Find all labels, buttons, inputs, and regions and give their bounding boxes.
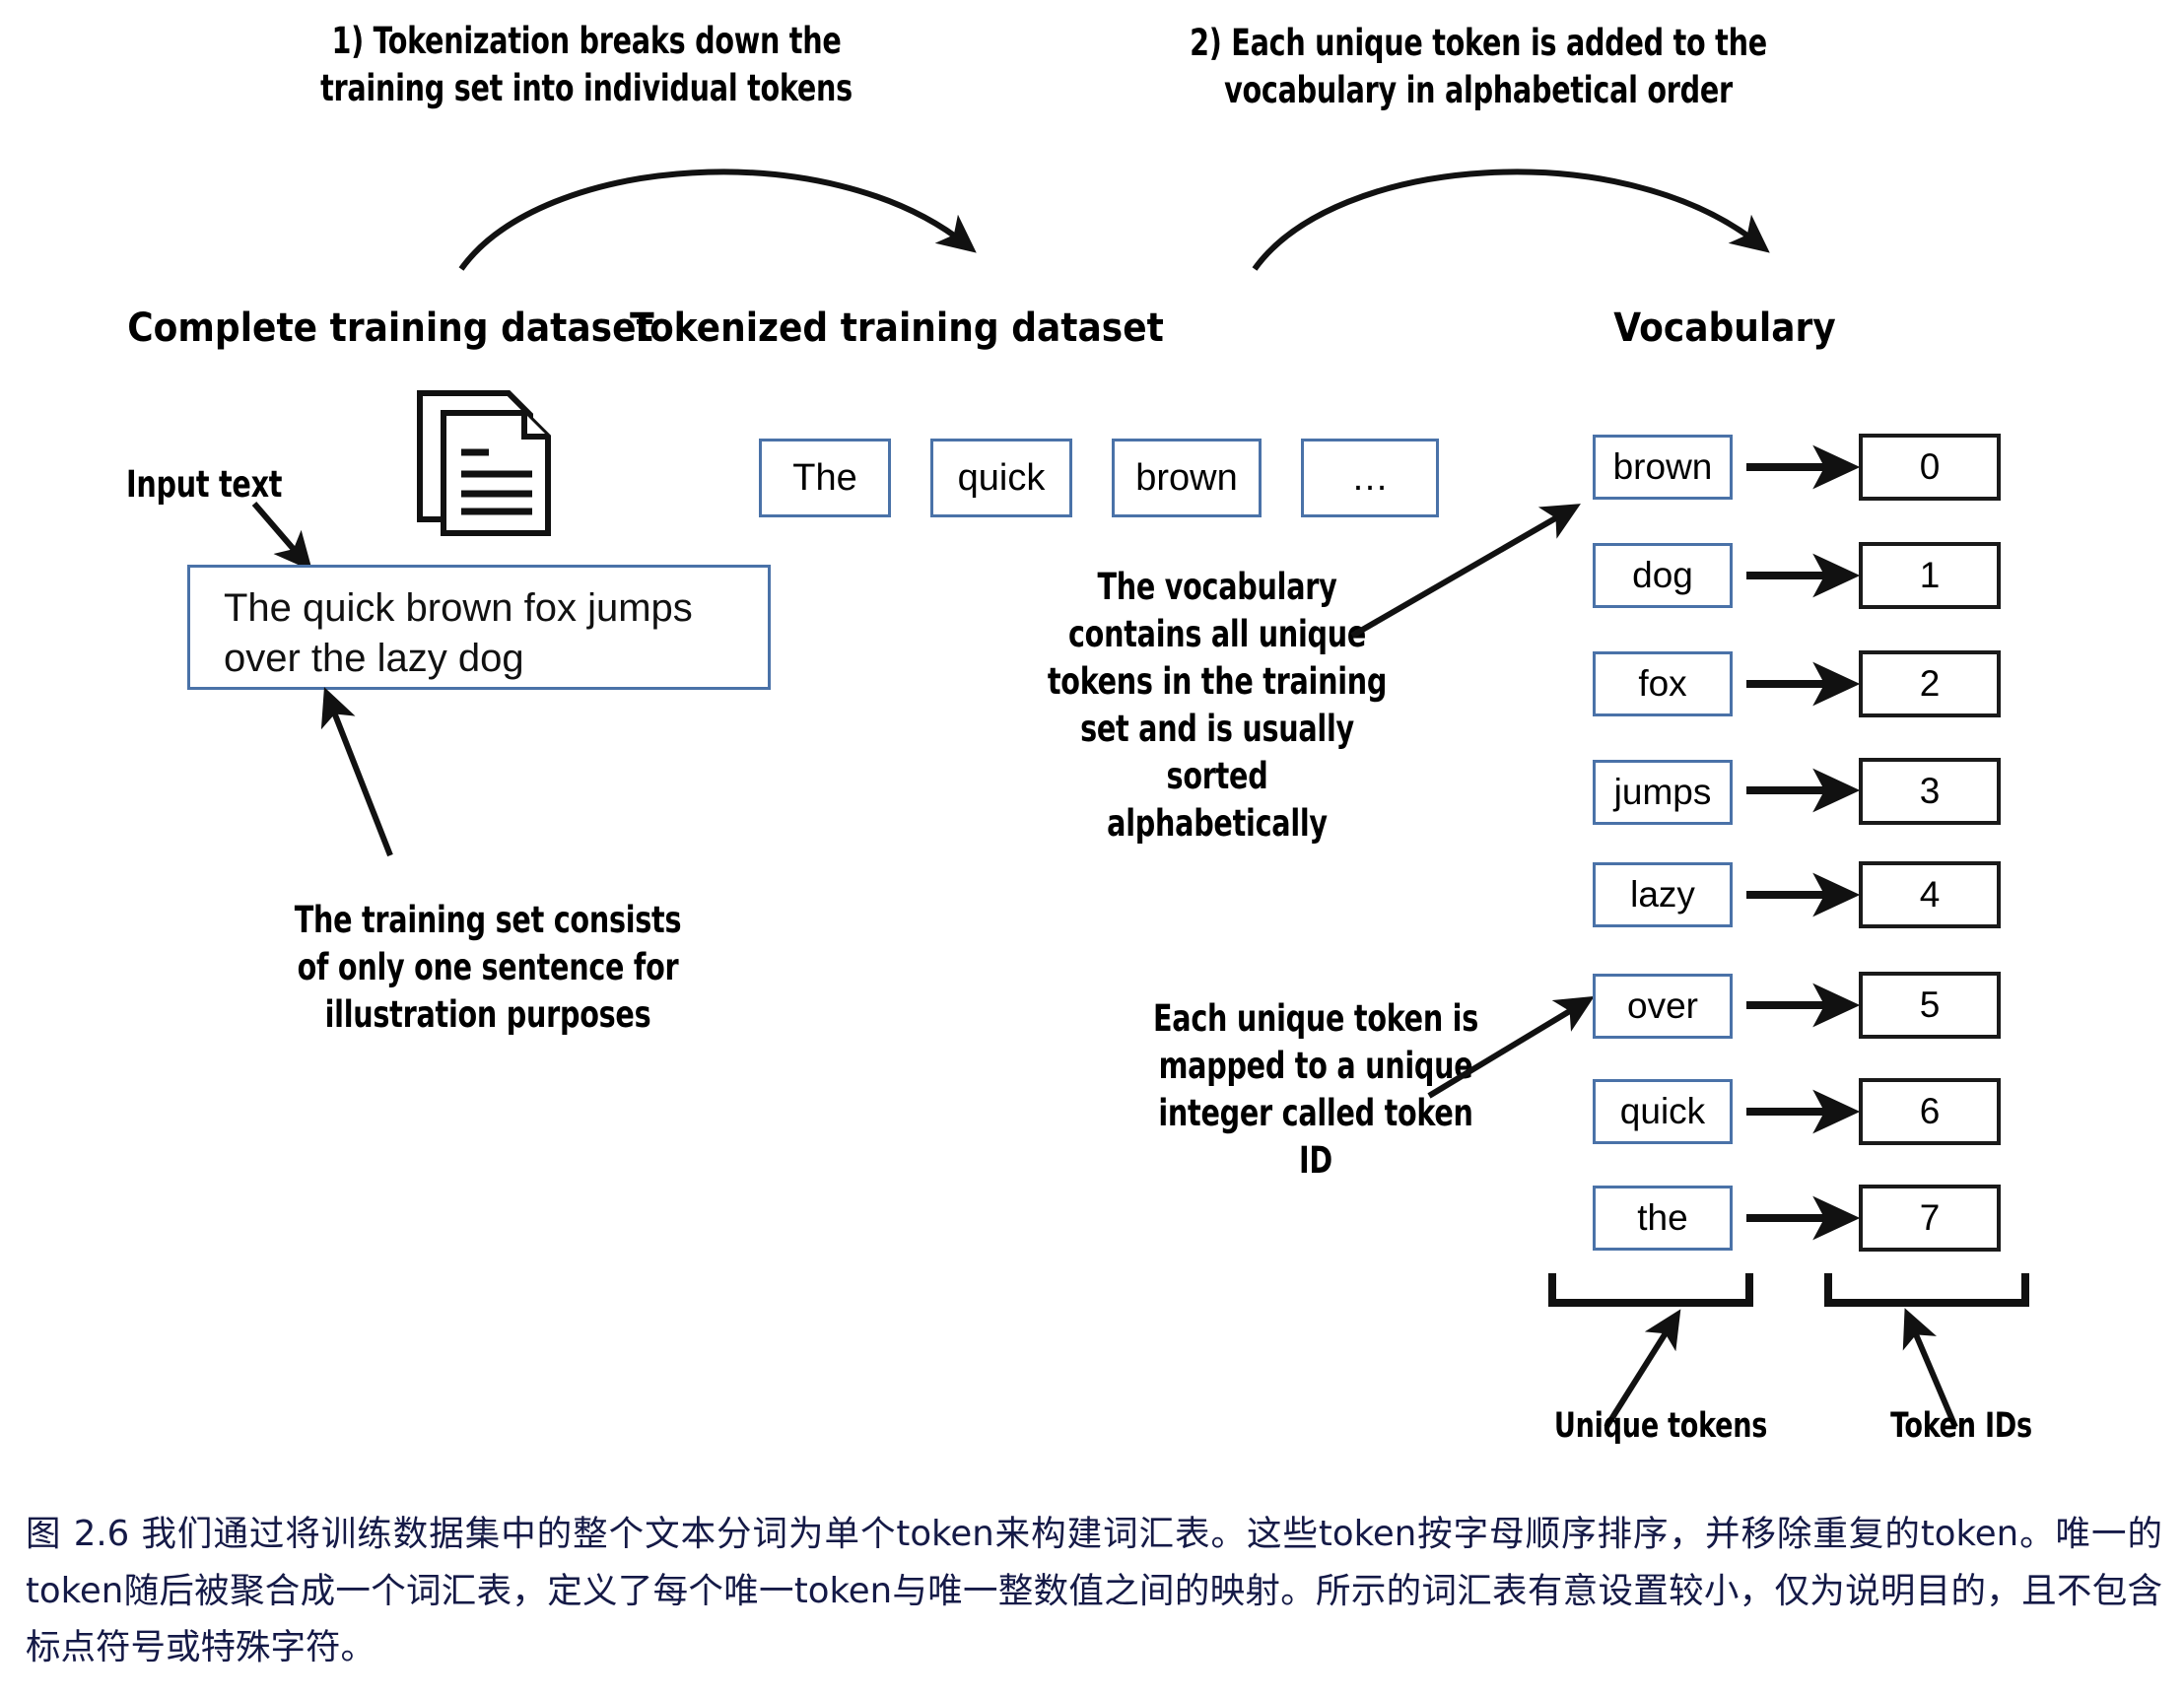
- vocab-token-box[interactable]: quick: [1593, 1079, 1733, 1144]
- token-chip[interactable]: brown: [1112, 439, 1262, 517]
- training-set-note: The training set consistsof only one sen…: [250, 897, 725, 1039]
- token-id-box[interactable]: 7: [1859, 1185, 2001, 1252]
- token-id-box[interactable]: 2: [1859, 650, 2001, 717]
- token-id-box[interactable]: 4: [1859, 861, 2001, 928]
- token-id-box[interactable]: 5: [1859, 972, 2001, 1039]
- vocab-token-box[interactable]: jumps: [1593, 760, 1733, 825]
- vocab-token-box[interactable]: the: [1593, 1186, 1733, 1251]
- input-text-box[interactable]: The quick brown fox jumpsover the lazy d…: [187, 565, 771, 690]
- step-1-curved-arrow: [453, 138, 1045, 286]
- vocab-token-box[interactable]: brown: [1593, 435, 1733, 500]
- token-ids-label: Token IDs: [1809, 1404, 2114, 1450]
- documents-stack-icon: [414, 389, 562, 537]
- token-chip[interactable]: quick: [930, 439, 1072, 517]
- token-ids-bracket: [1823, 1269, 2035, 1314]
- token-id-box[interactable]: 3: [1859, 758, 2001, 825]
- vocab-token-box[interactable]: dog: [1593, 543, 1733, 608]
- figure-caption: 图 2.6 我们通过将训练数据集中的整个文本分词为单个token来构建词汇表。这…: [26, 1506, 2162, 1676]
- token-chip[interactable]: The: [759, 439, 891, 517]
- token-id-box[interactable]: 6: [1859, 1078, 2001, 1145]
- token-id-box[interactable]: 1: [1859, 542, 2001, 609]
- vocab-token-box[interactable]: over: [1593, 974, 1733, 1039]
- token-to-id-arrows: [1742, 424, 1861, 1271]
- unique-tokens-label: Unique tokens: [1500, 1404, 1822, 1450]
- step-1-caption: 1) Tokenization breaks down thetraining …: [303, 18, 870, 112]
- step-2-curved-arrow: [1247, 138, 1838, 286]
- training-set-note-arrow: [315, 690, 444, 867]
- figure-canvas: 1) Tokenization breaks down thetraining …: [0, 0, 2184, 1697]
- heading-complete-training-dataset: Complete training dataset: [115, 305, 665, 351]
- unique-tokens-bracket: [1547, 1269, 1759, 1314]
- step-2-caption: 2) Each unique token is added to thevoca…: [1173, 20, 1783, 114]
- heading-vocabulary: Vocabulary: [1503, 305, 1946, 351]
- token-id-note-arrow: [1419, 985, 1597, 1114]
- vocab-token-box[interactable]: lazy: [1593, 862, 1733, 927]
- token-id-box[interactable]: 0: [1859, 434, 2001, 501]
- heading-tokenized-training-dataset: Tokenized training dataset: [586, 305, 1207, 351]
- vocabulary-note-arrow: [1340, 483, 1587, 650]
- vocab-token-box[interactable]: fox: [1593, 651, 1733, 716]
